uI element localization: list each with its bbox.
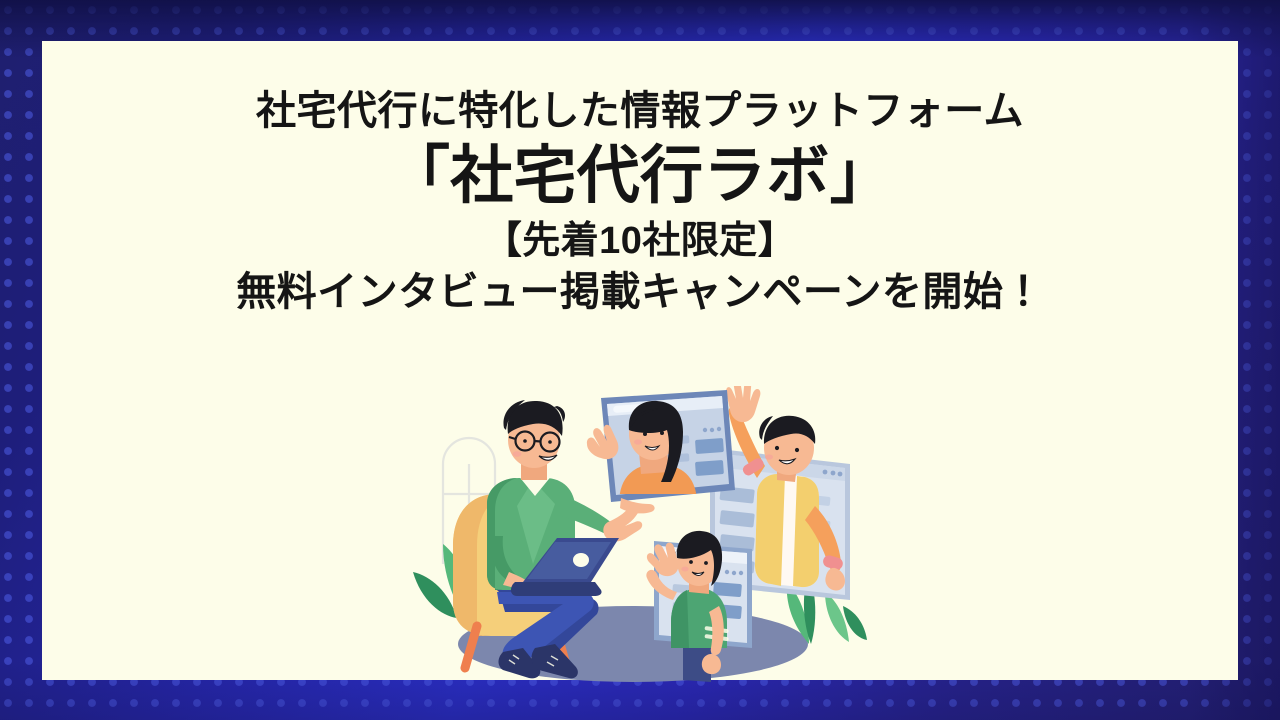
headline-line-1: 社宅代行に特化した情報プラットフォーム	[42, 87, 1238, 137]
online-interview-illustration	[405, 386, 875, 686]
content-card: 社宅代行に特化した情報プラットフォーム 「社宅代行ラボ」 【先着10社限定】 無…	[42, 41, 1238, 680]
headline-line-3-limit: 【先着10社限定】	[42, 217, 1238, 266]
slide-root: 社宅代行に特化した情報プラットフォーム 「社宅代行ラボ」 【先着10社限定】 無…	[0, 0, 1280, 720]
headline-line-2-title: 「社宅代行ラボ」	[42, 139, 1238, 213]
headline-block: 社宅代行に特化した情報プラットフォーム 「社宅代行ラボ」 【先着10社限定】 無…	[42, 87, 1238, 317]
headline-line-4-campaign: 無料インタビュー掲載キャンペーンを開始！	[42, 267, 1238, 317]
